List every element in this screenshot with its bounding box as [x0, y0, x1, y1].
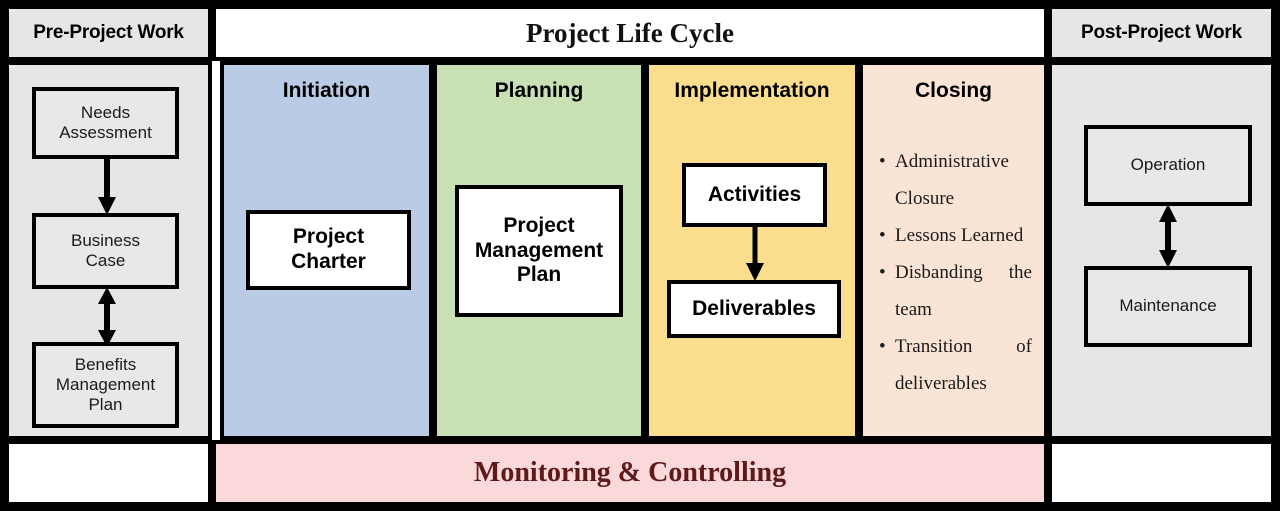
phase-closing-title: Closing: [863, 79, 1044, 103]
node-needs-assessment-line1: Needs: [81, 103, 130, 122]
closing-bullet-item: Administrative Closure: [877, 143, 1032, 217]
column-pre-project-work: Needs Assessment Business Case Benefits …: [5, 61, 212, 440]
project-life-cycle-diagram: Pre-Project Work Project Life Cycle Post…: [0, 0, 1280, 511]
closing-bullet-item: Disbanding the team: [877, 254, 1032, 328]
node-benefits-management-plan-line1: Benefits: [75, 355, 136, 374]
node-benefits-management-plan-line3: Plan: [88, 395, 122, 414]
artifact-deliverables-label: Deliverables: [692, 297, 816, 322]
header-pre-project-work-label: Pre-Project Work: [33, 22, 184, 44]
artifact-project-management-plan-line2: Management: [475, 239, 603, 262]
artifact-activities: Activities: [682, 163, 827, 227]
arrow-business-to-benefits-double: [97, 287, 117, 347]
node-benefits-management-plan: Benefits Management Plan: [32, 342, 179, 428]
page-title: Project Life Cycle: [526, 18, 734, 49]
monitoring-and-controlling-label: Monitoring & Controlling: [474, 457, 786, 489]
closing-bullet-list: Administrative Closure Lessons Learned D…: [877, 143, 1032, 402]
column-phase-implementation: Implementation Activities Deliverables: [645, 61, 859, 440]
arrow-activities-to-deliverables: [745, 225, 765, 283]
closing-bullet-item: Lessons Learned: [877, 217, 1032, 254]
node-business-case: Business Case: [32, 213, 179, 289]
column-phase-planning: Planning Project Management Plan: [433, 61, 645, 440]
bottom-left-empty-cell: [5, 440, 212, 506]
artifact-project-charter-line2: Charter: [291, 250, 366, 273]
column-post-project-work: Operation Maintenance: [1048, 61, 1275, 440]
node-benefits-management-plan-line2: Management: [56, 375, 155, 394]
node-business-case-line2: Case: [86, 251, 126, 270]
header-pre-project-work: Pre-Project Work: [5, 5, 212, 61]
closing-bullet-item: Transition of deliverables: [877, 328, 1032, 402]
phase-implementation-title: Implementation: [649, 79, 855, 103]
bottom-right-empty-cell: [1048, 440, 1275, 506]
header-post-project-work-label: Post-Project Work: [1081, 22, 1242, 44]
column-phase-initiation: Initiation Project Charter: [220, 61, 433, 440]
artifact-activities-label: Activities: [708, 183, 801, 208]
artifact-project-management-plan: Project Management Plan: [455, 185, 623, 317]
node-operation: Operation: [1084, 125, 1252, 206]
column-phase-closing: Closing Administrative Closure Lessons L…: [859, 61, 1048, 440]
node-needs-assessment-line2: Assessment: [59, 123, 152, 142]
node-business-case-line1: Business: [71, 231, 140, 250]
artifact-project-management-plan-line3: Plan: [517, 263, 561, 286]
node-operation-label: Operation: [1131, 155, 1206, 175]
monitoring-and-controlling-band: Monitoring & Controlling: [212, 440, 1048, 506]
artifact-project-charter-line1: Project: [293, 225, 364, 248]
artifact-deliverables: Deliverables: [667, 280, 841, 338]
phase-planning-title: Planning: [437, 79, 641, 103]
arrow-operation-to-maintenance-double: [1158, 204, 1178, 268]
artifact-project-management-plan-line1: Project: [503, 214, 574, 237]
header-post-project-work: Post-Project Work: [1048, 5, 1275, 61]
phase-initiation-title: Initiation: [224, 79, 429, 103]
artifact-project-charter: Project Charter: [246, 210, 411, 290]
arrow-needs-to-business: [97, 157, 117, 218]
node-maintenance: Maintenance: [1084, 266, 1252, 347]
node-needs-assessment: Needs Assessment: [32, 87, 179, 159]
node-maintenance-label: Maintenance: [1119, 296, 1216, 316]
header-project-life-cycle: Project Life Cycle: [212, 5, 1048, 61]
